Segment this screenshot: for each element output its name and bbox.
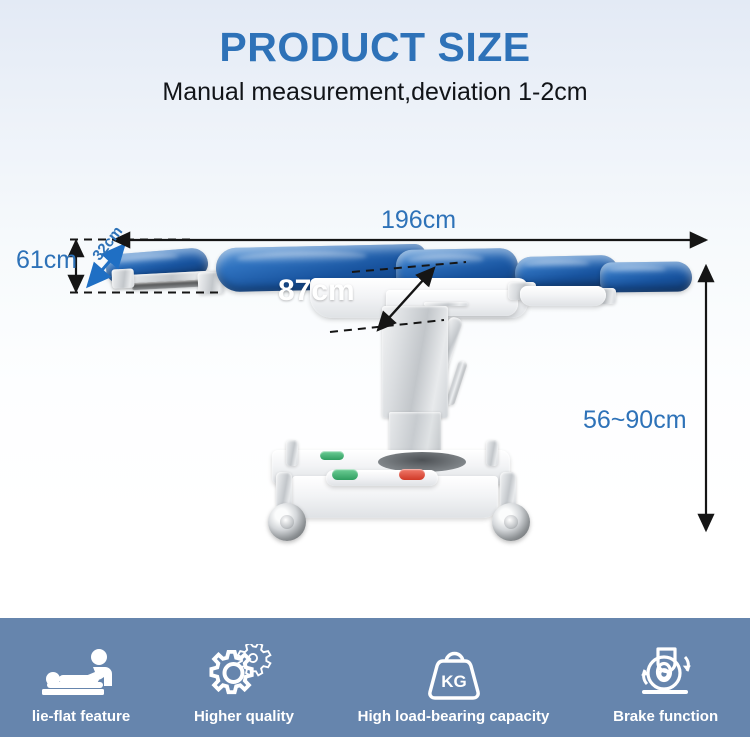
person-lying-on-bed-icon (39, 644, 123, 700)
feature-label: High load-bearing capacity (358, 709, 550, 724)
product-size-infographic: PRODUCT SIZE Manual measurement,deviatio… (0, 0, 750, 737)
feature-label: lie-flat feature (32, 709, 130, 724)
feature-load-capacity[interactable]: KG High load-bearing capacity (358, 632, 550, 724)
kg-icon-text: KG (441, 672, 467, 691)
feature-higher-quality[interactable]: Higher quality (194, 632, 294, 724)
feature-band: lie-flat feature Higher quality (0, 618, 750, 737)
feature-label: Higher quality (194, 709, 294, 724)
product-illustration-area: 61cm 32cm 87cm 196cm 56~90cm (0, 120, 750, 618)
page-subtitle: Manual measurement,deviation 1-2cm (0, 68, 750, 105)
dim-87-arrow (378, 268, 434, 330)
dim-label-196cm: 196cm (381, 208, 456, 233)
page-title: PRODUCT SIZE (0, 0, 750, 68)
dim-87-ext-upper (352, 262, 466, 272)
dim-label-87cm: 87cm (278, 276, 355, 306)
weight-kg-icon: KG (427, 644, 481, 700)
header: PRODUCT SIZE Manual measurement,deviatio… (0, 0, 750, 120)
feature-lie-flat[interactable]: lie-flat feature (32, 632, 130, 724)
feature-label: Brake function (613, 709, 718, 724)
dimension-overlay (0, 120, 750, 618)
dim-label-height-range: 56~90cm (583, 408, 687, 433)
feature-brake[interactable]: Brake function (613, 632, 718, 724)
gears-icon (209, 644, 279, 700)
caster-brake-icon (634, 644, 698, 700)
dim-label-61cm: 61cm (16, 248, 77, 273)
